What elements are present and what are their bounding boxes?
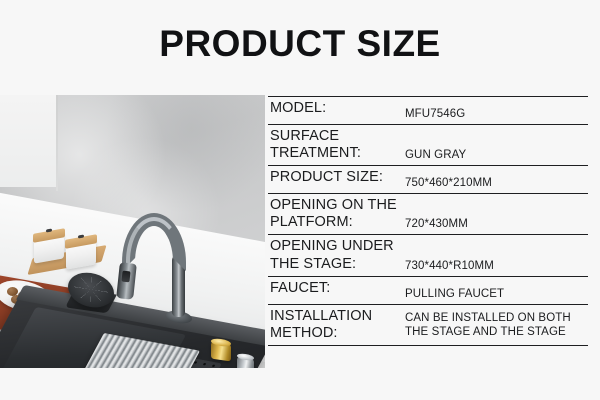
product-photo (0, 95, 265, 368)
spec-label-faucet: FAUCET: (268, 278, 401, 300)
wall-left-panel (0, 95, 58, 187)
table-row: SURFACE TREATMENT: GUN GRAY (268, 124, 588, 165)
spec-label-surface-treatment: SURFACE TREATMENT: (268, 126, 401, 165)
spec-value-faucet: PULLING FAUCET (401, 285, 588, 304)
spec-value-product-size: 750*460*210MM (401, 174, 588, 193)
table-row: OPENING ON THE PLATFORM: 720*430MM (268, 193, 588, 234)
spec-label-model: MODEL: (268, 98, 401, 120)
spec-label-product-size: PRODUCT SIZE: (268, 167, 401, 189)
specification-table: MODEL: MFU7546G SURFACE TREATMENT: GUN G… (268, 96, 588, 346)
installation-line-1: CAN BE INSTALLED ON BOTH (405, 311, 586, 325)
spec-label-installation-method: INSTALLATION METHOD: (268, 306, 401, 345)
table-row: OPENING UNDER THE STAGE: 730*440*R10MM (268, 234, 588, 275)
page-title: PRODUCT SIZE (0, 25, 600, 62)
table-row: MODEL: MFU7546G (268, 96, 588, 124)
spec-value-opening-under-stage: 730*440*R10MM (401, 257, 588, 276)
spec-value-surface-treatment: GUN GRAY (401, 146, 588, 165)
installation-line-2: THE STAGE AND THE STAGE (405, 325, 586, 339)
spec-label-opening-on-platform: OPENING ON THE PLATFORM: (268, 195, 401, 234)
table-row: FAUCET: PULLING FAUCET (268, 276, 588, 304)
spec-value-installation-method: CAN BE INSTALLED ON BOTH THE STAGE AND T… (401, 309, 588, 342)
spec-value-opening-on-platform: 720*430MM (401, 215, 588, 234)
faucet-spray-button (121, 271, 130, 283)
spec-label-opening-under-stage: OPENING UNDER THE STAGE: (268, 236, 401, 275)
table-row: PRODUCT SIZE: 750*460*210MM (268, 165, 588, 193)
spec-value-model: MFU7546G (401, 105, 588, 124)
product-size-page: PRODUCT SIZE (0, 0, 600, 400)
table-row: INSTALLATION METHOD: CAN BE INSTALLED ON… (268, 304, 588, 346)
wall-seam (56, 95, 58, 191)
